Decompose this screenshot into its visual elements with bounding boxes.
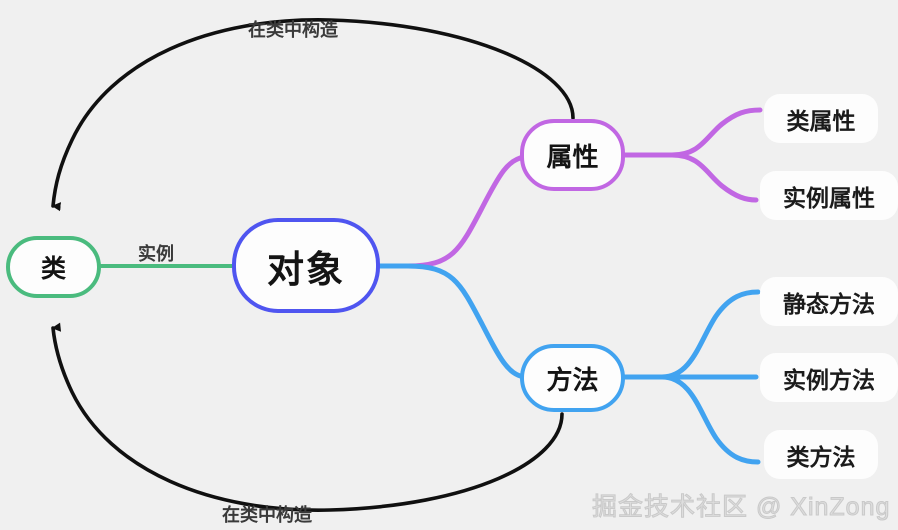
- node-instance-method-label: 实例方法: [783, 361, 875, 395]
- node-instance-method[interactable]: 实例方法: [760, 353, 898, 402]
- node-instance-attribute[interactable]: 实例属性: [760, 171, 898, 220]
- edge-label-construct-top: 在类中构造: [248, 16, 338, 42]
- node-method[interactable]: 方法: [520, 344, 625, 412]
- node-class-method-label: 类方法: [787, 438, 856, 472]
- node-method-label: 方法: [546, 360, 598, 397]
- edge-method-class-method: [662, 377, 758, 462]
- node-class-method[interactable]: 类方法: [764, 430, 878, 479]
- edge-object-method: [377, 266, 524, 377]
- node-attribute-label: 属性: [546, 137, 598, 174]
- edge-label-instance: 实例: [138, 240, 174, 266]
- node-class-attribute-label: 类属性: [787, 102, 856, 136]
- edge-attribute-class-attribute: [672, 110, 760, 155]
- edge-method-class-construct: [53, 328, 562, 510]
- node-class-label: 类: [41, 249, 66, 285]
- edge-attribute-instance-attribute: [672, 155, 756, 200]
- mindmap-canvas: 类 对象 属性 方法 类属性 实例属性 静态方法 实例方法 类方法 实例 在类中…: [0, 0, 898, 530]
- edge-attribute-class-construct: [53, 20, 573, 206]
- edge-object-attribute: [377, 157, 524, 266]
- node-static-method[interactable]: 静态方法: [760, 277, 898, 326]
- node-instance-attribute-label: 实例属性: [783, 179, 875, 213]
- node-class[interactable]: 类: [6, 236, 101, 298]
- edge-method-static-method: [662, 292, 758, 377]
- node-static-method-label: 静态方法: [783, 285, 875, 319]
- watermark: 掘金技术社区 @ XinZong: [592, 487, 890, 523]
- node-class-attribute[interactable]: 类属性: [764, 94, 878, 143]
- node-attribute[interactable]: 属性: [520, 119, 625, 191]
- edge-label-construct-bottom: 在类中构造: [222, 501, 312, 527]
- node-object-label: 对象: [267, 239, 345, 293]
- node-object[interactable]: 对象: [232, 218, 380, 313]
